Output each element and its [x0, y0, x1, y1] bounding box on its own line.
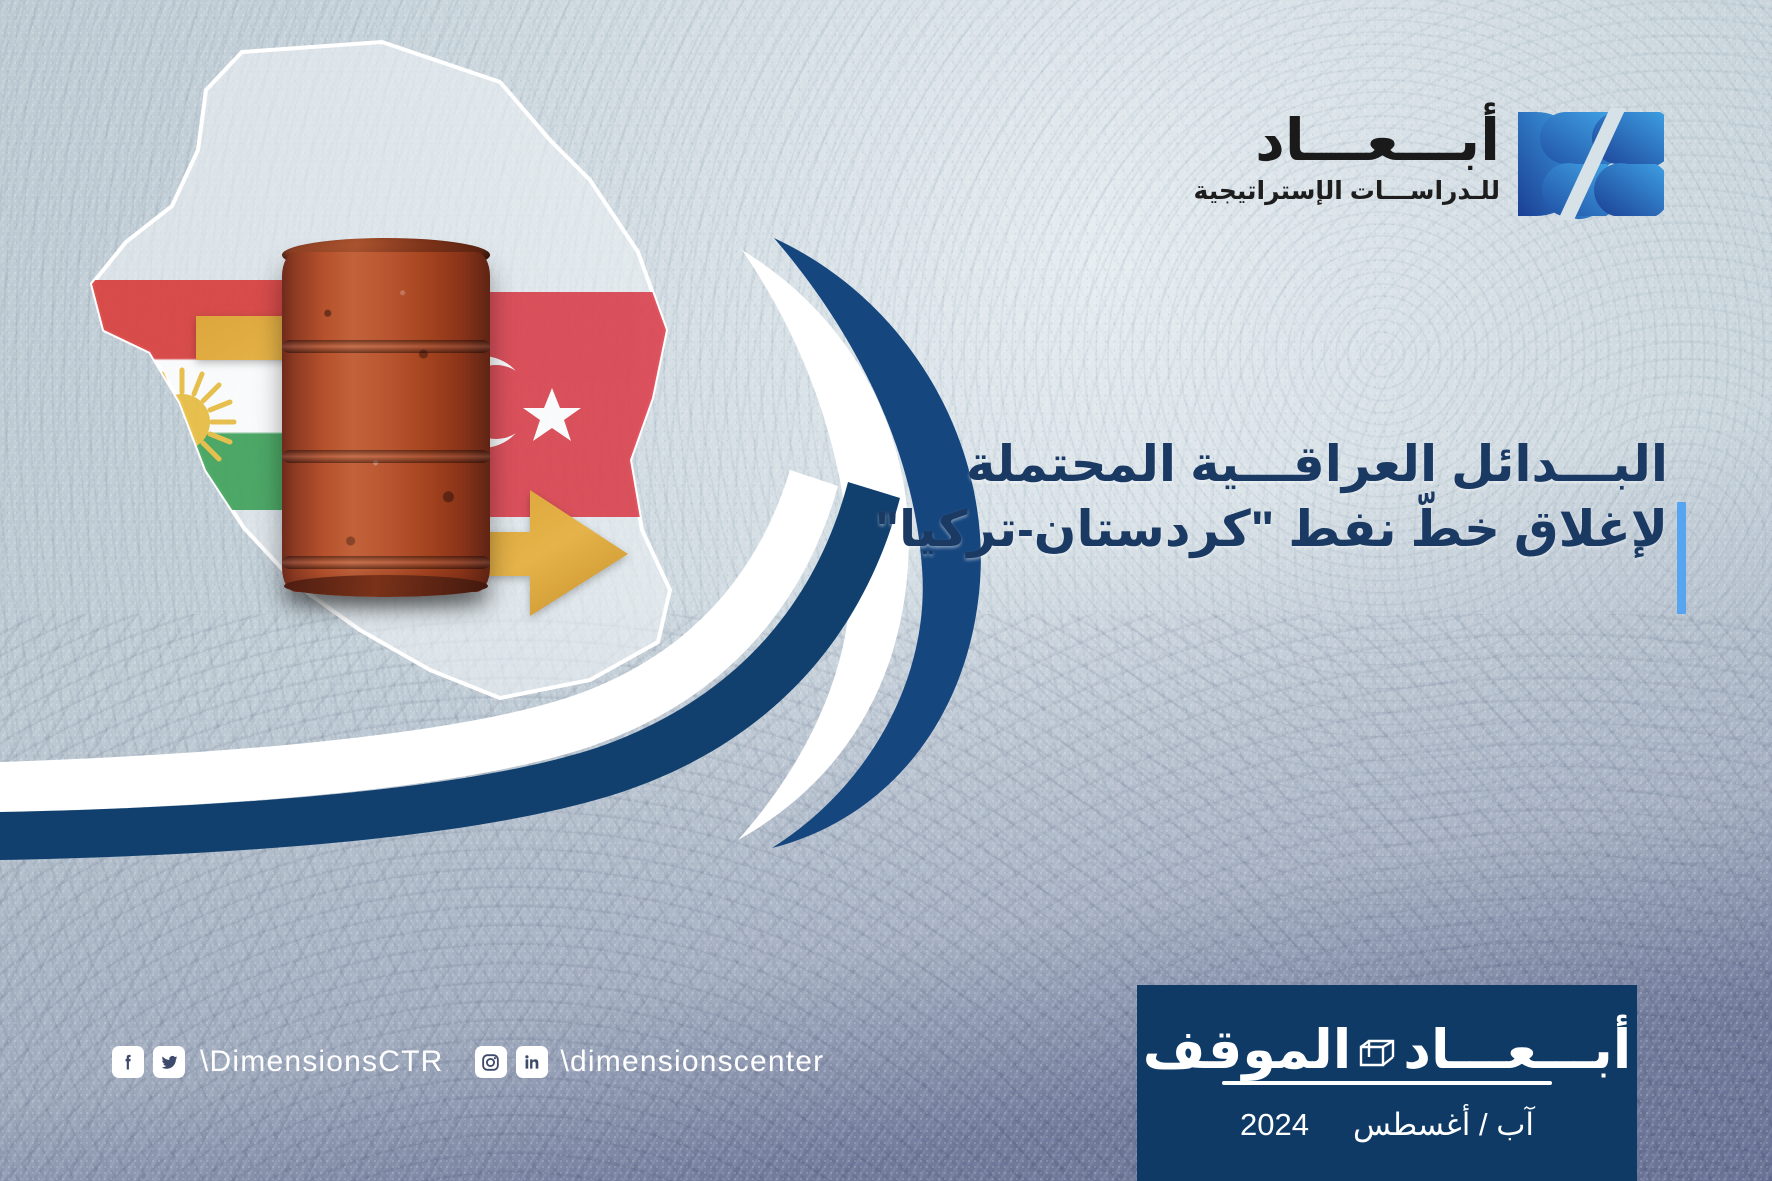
oil-barrel — [282, 252, 490, 592]
page-title: البـــدائل العراقـــية المحتملة لإغلاق خ… — [788, 432, 1668, 562]
brand-tagline: للـدراســـات الإستراتيجية — [1194, 176, 1500, 206]
facebook-icon[interactable] — [112, 1046, 144, 1078]
brand-name: أبـــعـــاد — [1194, 112, 1500, 170]
oil-barrel-ring-1 — [282, 340, 490, 353]
badge-year: 2024 — [1240, 1107, 1309, 1143]
social-handle-1[interactable]: \DimensionsCTR — [200, 1045, 444, 1079]
oil-barrel-ring-2 — [282, 450, 490, 463]
series-badge: أبـــعـــاد الموقف آب / أغسطس 2024 — [1137, 985, 1637, 1181]
brand-logo: أبـــعـــاد للـدراســـات الإستراتيجية — [1194, 112, 1500, 206]
series-badge-date: آب / أغسطس 2024 — [1240, 1107, 1534, 1143]
instagram-icon[interactable] — [475, 1046, 507, 1078]
oil-barrel-ring-3 — [282, 556, 490, 569]
badge-month: آب / أغسطس — [1353, 1107, 1534, 1143]
dss-monogram-icon — [1514, 108, 1664, 220]
poster-canvas: أبـــعـــاد للـدراســـات الإستراتيجية — [0, 0, 1772, 1181]
oil-barrel-base — [284, 575, 488, 597]
series-badge-underline — [1222, 1081, 1552, 1085]
social-links: \DimensionsCTR \dimensionscenter — [112, 1045, 846, 1079]
title-accent-bar — [1677, 502, 1686, 614]
title-line-2: لإغلاق خطّ نفط "كردستان-تركيا" — [788, 497, 1668, 562]
social-handle-2[interactable]: \dimensionscenter — [561, 1045, 825, 1079]
linkedin-icon[interactable] — [516, 1046, 548, 1078]
series-badge-word-a: أبـــعـــاد — [1403, 1023, 1631, 1077]
layered-square-icon — [1355, 1030, 1399, 1070]
twitter-icon[interactable] — [153, 1046, 185, 1078]
title-line-1: البـــدائل العراقـــية المحتملة — [788, 432, 1668, 497]
series-badge-title: أبـــعـــاد الموقف — [1143, 1023, 1632, 1077]
series-badge-word-b: الموقف — [1143, 1023, 1352, 1077]
